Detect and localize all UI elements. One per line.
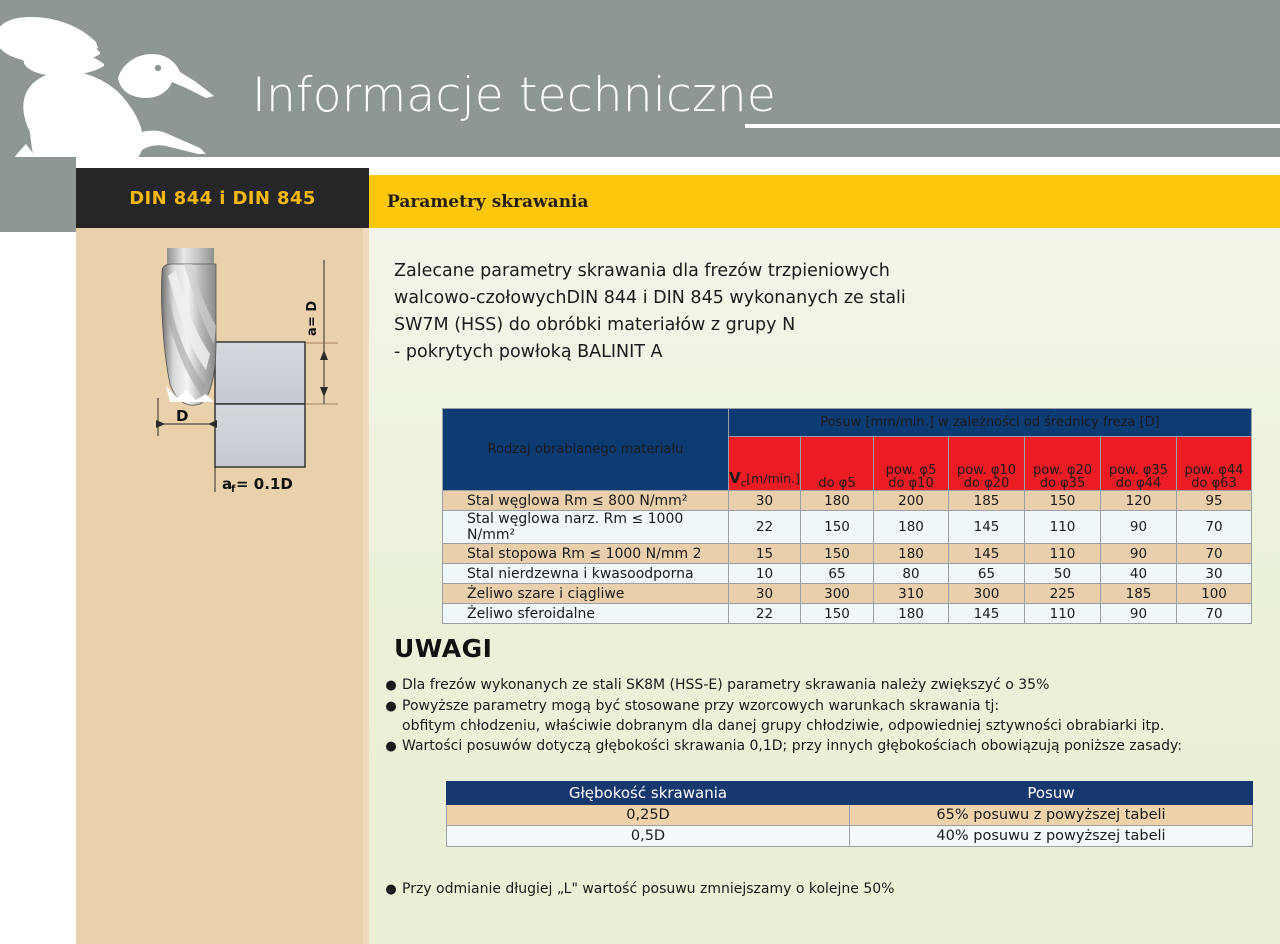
intro-line-1: Zalecane parametry skrawania dla frezów … bbox=[394, 258, 1014, 285]
cell-20-35: 50 bbox=[1025, 564, 1101, 584]
header-col-5-10: pow. φ5 do φ10 bbox=[874, 437, 949, 491]
bullet-icon: ● bbox=[380, 880, 402, 900]
intro-paragraph: Zalecane parametry skrawania dla frezów … bbox=[394, 258, 1014, 366]
table-row: Żeliwo sferoidalne 22 150 180 145 110 90… bbox=[443, 604, 1252, 624]
header-col-35-44: pow. φ35 do φ44 bbox=[1101, 437, 1177, 491]
cell-35-44: 120 bbox=[1101, 491, 1177, 511]
note-item: ● Powyższe parametry mogą być stosowane … bbox=[380, 697, 1270, 717]
table-row: 0,5D 40% posuwu z powyższej tabeli bbox=[447, 826, 1253, 847]
depth-header-feed: Posuw bbox=[850, 782, 1253, 805]
cell-vc: 10 bbox=[729, 564, 801, 584]
page-title: Informacje techniczne bbox=[252, 72, 776, 119]
row-material: Stal nierdzewna i kwasoodporna bbox=[443, 564, 729, 584]
note-item: ● Wartości posuwów dotyczą głębokości sk… bbox=[380, 737, 1270, 757]
cell-do5: 150 bbox=[801, 604, 874, 624]
cell-vc: 30 bbox=[729, 491, 801, 511]
cell-5-10: 310 bbox=[874, 584, 949, 604]
cell-5-10: 180 bbox=[874, 544, 949, 564]
table-header-group-row: Rodzaj obrabianego materiału Posuw [mm/m… bbox=[443, 409, 1252, 437]
cell-do5: 150 bbox=[801, 511, 874, 544]
cell-44-63: 70 bbox=[1177, 511, 1252, 544]
row-material: Żeliwo szare i ciągliwe bbox=[443, 584, 729, 604]
intro-line-3: SW7M (HSS) do obróbki materiałów z grupy… bbox=[394, 312, 1014, 339]
header-col-5-10-line2: do φ10 bbox=[874, 477, 948, 490]
cell-44-63: 70 bbox=[1177, 604, 1252, 624]
row-material: Stal węglowa Rm ≤ 800 N/mm² bbox=[443, 491, 729, 511]
end-mill-diagram: a = D D a f = 0.1D bbox=[126, 246, 366, 496]
header-col-44-63-line2: do φ63 bbox=[1177, 477, 1251, 490]
header-feed-group: Posuw [mm/min.] w zależności od średnicy… bbox=[729, 409, 1252, 437]
cell-5-10: 180 bbox=[874, 511, 949, 544]
cell-35-44: 90 bbox=[1101, 544, 1177, 564]
row-material: Stal węglowa narz. Rm ≤ 1000 N/mm² bbox=[443, 511, 729, 544]
depth-table-body: 0,25D 65% posuwu z powyższej tabeli 0,5D… bbox=[447, 805, 1253, 847]
header-col-10-20: pow. φ10 do φ20 bbox=[949, 437, 1025, 491]
cell-10-20: 145 bbox=[949, 544, 1025, 564]
header-col-do5: do φ5 bbox=[801, 437, 874, 491]
cell-do5: 180 bbox=[801, 491, 874, 511]
cell-44-63: 30 bbox=[1177, 564, 1252, 584]
cell-20-35: 110 bbox=[1025, 544, 1101, 564]
header-col-vc: Vc[m/min.] bbox=[729, 437, 801, 491]
cell-do5: 300 bbox=[801, 584, 874, 604]
note-item-final: ● Przy odmianie długiej „L" wartość posu… bbox=[380, 880, 1270, 900]
note-item: ● Dla frezów wykonanych ze stali SK8M (H… bbox=[380, 676, 1270, 696]
section-title-bar: Parametry skrawania bbox=[369, 175, 1280, 228]
note-continuation: obfitym chłodzeniu, właściwie dobranym d… bbox=[380, 717, 1270, 737]
table-row: Stal nierdzewna i kwasoodporna 10 65 80 … bbox=[443, 564, 1252, 584]
cutting-parameters-table: Rodzaj obrabianego materiału Posuw [mm/m… bbox=[442, 408, 1252, 624]
label-axial-depth: a bbox=[305, 327, 320, 336]
cell-5-10: 180 bbox=[874, 604, 949, 624]
note-text: Dla frezów wykonanych ze stali SK8M (HSS… bbox=[402, 676, 1270, 696]
depth-cell: 0,25D bbox=[447, 805, 850, 826]
depth-table-header-row: Głębokość skrawania Posuw bbox=[447, 782, 1253, 805]
depth-header-depth: Głębokość skrawania bbox=[447, 782, 850, 805]
cell-20-35: 150 bbox=[1025, 491, 1101, 511]
cell-44-63: 100 bbox=[1177, 584, 1252, 604]
cell-do5: 150 bbox=[801, 544, 874, 564]
note-text: Powyższe parametry mogą być stosowane pr… bbox=[402, 697, 1270, 717]
cell-vc: 22 bbox=[729, 511, 801, 544]
header-col-44-63: pow. φ44 do φ63 bbox=[1177, 437, 1252, 491]
row-material: Żeliwo sferoidalne bbox=[443, 604, 729, 624]
intro-line-4: - pokrytych powłoką BALINIT A bbox=[394, 339, 1014, 366]
table-row: Stal węglowa narz. Rm ≤ 1000 N/mm² 22 15… bbox=[443, 511, 1252, 544]
cell-20-35: 110 bbox=[1025, 604, 1101, 624]
cell-vc: 15 bbox=[729, 544, 801, 564]
title-underline-rule bbox=[745, 124, 1280, 128]
table-row: Żeliwo szare i ciągliwe 30 300 310 300 2… bbox=[443, 584, 1252, 604]
cell-35-44: 90 bbox=[1101, 604, 1177, 624]
note-text: Wartości posuwów dotyczą głębokości skra… bbox=[402, 737, 1270, 757]
standard-badge: DIN 844 i DIN 845 bbox=[76, 168, 369, 228]
cutting-parameters-body: Stal węglowa Rm ≤ 800 N/mm² 30 180 200 1… bbox=[443, 491, 1252, 624]
intro-line-2: walcowo-czołowychDIN 844 i DIN 845 wykon… bbox=[394, 285, 1014, 312]
cell-20-35: 110 bbox=[1025, 511, 1101, 544]
svg-text:= 0.1D: = 0.1D bbox=[236, 475, 293, 493]
feed-cell: 65% posuwu z powyższej tabeli bbox=[850, 805, 1253, 826]
depth-cell: 0,5D bbox=[447, 826, 850, 847]
table-row: Stal stopowa Rm ≤ 1000 N/mm 2 15 150 180… bbox=[443, 544, 1252, 564]
cell-44-63: 70 bbox=[1177, 544, 1252, 564]
vc-unit: [m/min.] bbox=[746, 471, 800, 486]
notes-heading: UWAGI bbox=[394, 634, 492, 663]
vc-symbol: V bbox=[729, 469, 741, 487]
cell-35-44: 40 bbox=[1101, 564, 1177, 584]
header-col-10-20-line2: do φ20 bbox=[949, 477, 1024, 490]
page-root: Informacje techniczne DIN 844 i DIN 845 … bbox=[0, 0, 1280, 944]
cell-do5: 65 bbox=[801, 564, 874, 584]
bullet-icon: ● bbox=[380, 676, 402, 696]
cell-44-63: 95 bbox=[1177, 491, 1252, 511]
notes-list: ● Dla frezów wykonanych ze stali SK8M (H… bbox=[380, 676, 1270, 757]
cell-vc: 22 bbox=[729, 604, 801, 624]
grey-left-block bbox=[0, 157, 76, 232]
table-row: 0,25D 65% posuwu z powyższej tabeli bbox=[447, 805, 1253, 826]
bullet-icon: ● bbox=[380, 697, 402, 717]
row-material: Stal stopowa Rm ≤ 1000 N/mm 2 bbox=[443, 544, 729, 564]
depth-feed-table: Głębokość skrawania Posuw 0,25D 65% posu… bbox=[446, 781, 1253, 847]
header-col-20-35: pow. φ20 do φ35 bbox=[1025, 437, 1101, 491]
cell-10-20: 300 bbox=[949, 584, 1025, 604]
label-diameter: D bbox=[176, 407, 188, 425]
cell-10-20: 65 bbox=[949, 564, 1025, 584]
header-material-column: Rodzaj obrabianego materiału bbox=[443, 409, 729, 491]
logo-eye bbox=[155, 65, 161, 71]
header-col-do5-line1: do φ5 bbox=[801, 477, 873, 490]
feed-cell: 40% posuwu z powyższej tabeli bbox=[850, 826, 1253, 847]
standard-badge-label: DIN 844 i DIN 845 bbox=[76, 168, 369, 228]
cell-35-44: 90 bbox=[1101, 511, 1177, 544]
cell-10-20: 185 bbox=[949, 491, 1025, 511]
header-col-35-44-line2: do φ44 bbox=[1101, 477, 1176, 490]
table-row: Stal węglowa Rm ≤ 800 N/mm² 30 180 200 1… bbox=[443, 491, 1252, 511]
note-text: Przy odmianie długiej „L" wartość posuwu… bbox=[402, 880, 1270, 900]
cell-35-44: 185 bbox=[1101, 584, 1177, 604]
cell-5-10: 200 bbox=[874, 491, 949, 511]
svg-text:= D: = D bbox=[305, 301, 320, 327]
cell-vc: 30 bbox=[729, 584, 801, 604]
bullet-icon: ● bbox=[380, 737, 402, 757]
cell-10-20: 145 bbox=[949, 511, 1025, 544]
header-col-20-35-line2: do φ35 bbox=[1025, 477, 1100, 490]
cell-10-20: 145 bbox=[949, 604, 1025, 624]
section-title-label: Parametry skrawania bbox=[387, 175, 589, 228]
cell-20-35: 225 bbox=[1025, 584, 1101, 604]
cell-5-10: 80 bbox=[874, 564, 949, 584]
